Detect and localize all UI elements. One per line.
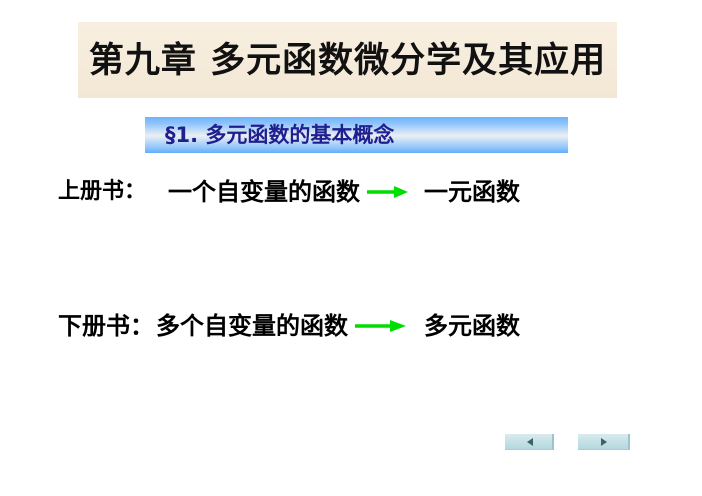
right-arrow-icon [366, 183, 410, 201]
row-upper-phrase: 一个自变量的函数 [168, 180, 360, 204]
triangle-right-icon [601, 438, 607, 446]
right-arrow-icon [354, 317, 408, 335]
section-banner-title: §1. 多元函数的基本概念 [145, 125, 394, 146]
triangle-left-icon [527, 438, 533, 446]
row-upper-volume: 上册书： 一个自变量的函数 一元函数 [58, 175, 520, 209]
chapter-title: 第九章 多元函数微分学及其应用 [89, 43, 606, 78]
row-lower-volume: 下册书： 多个自变量的函数 多元函数 [58, 308, 520, 344]
row-lower-result: 多元函数 [424, 314, 520, 338]
row-lower-label: 下册书： [58, 314, 154, 338]
chapter-title-plaque: 第九章 多元函数微分学及其应用 [78, 22, 617, 98]
row-upper-label: 上册书： [58, 181, 146, 203]
slide-canvas: 第九章 多元函数微分学及其应用 §1. 多元函数的基本概念 上册书： 一个自变量… [0, 0, 702, 496]
next-slide-button[interactable] [578, 434, 630, 450]
slide-navigation [505, 434, 635, 450]
row-lower-phrase: 多个自变量的函数 [156, 314, 348, 338]
previous-slide-button[interactable] [505, 434, 554, 450]
row-upper-result: 一元函数 [424, 180, 520, 204]
section-banner: §1. 多元函数的基本概念 [145, 117, 568, 153]
